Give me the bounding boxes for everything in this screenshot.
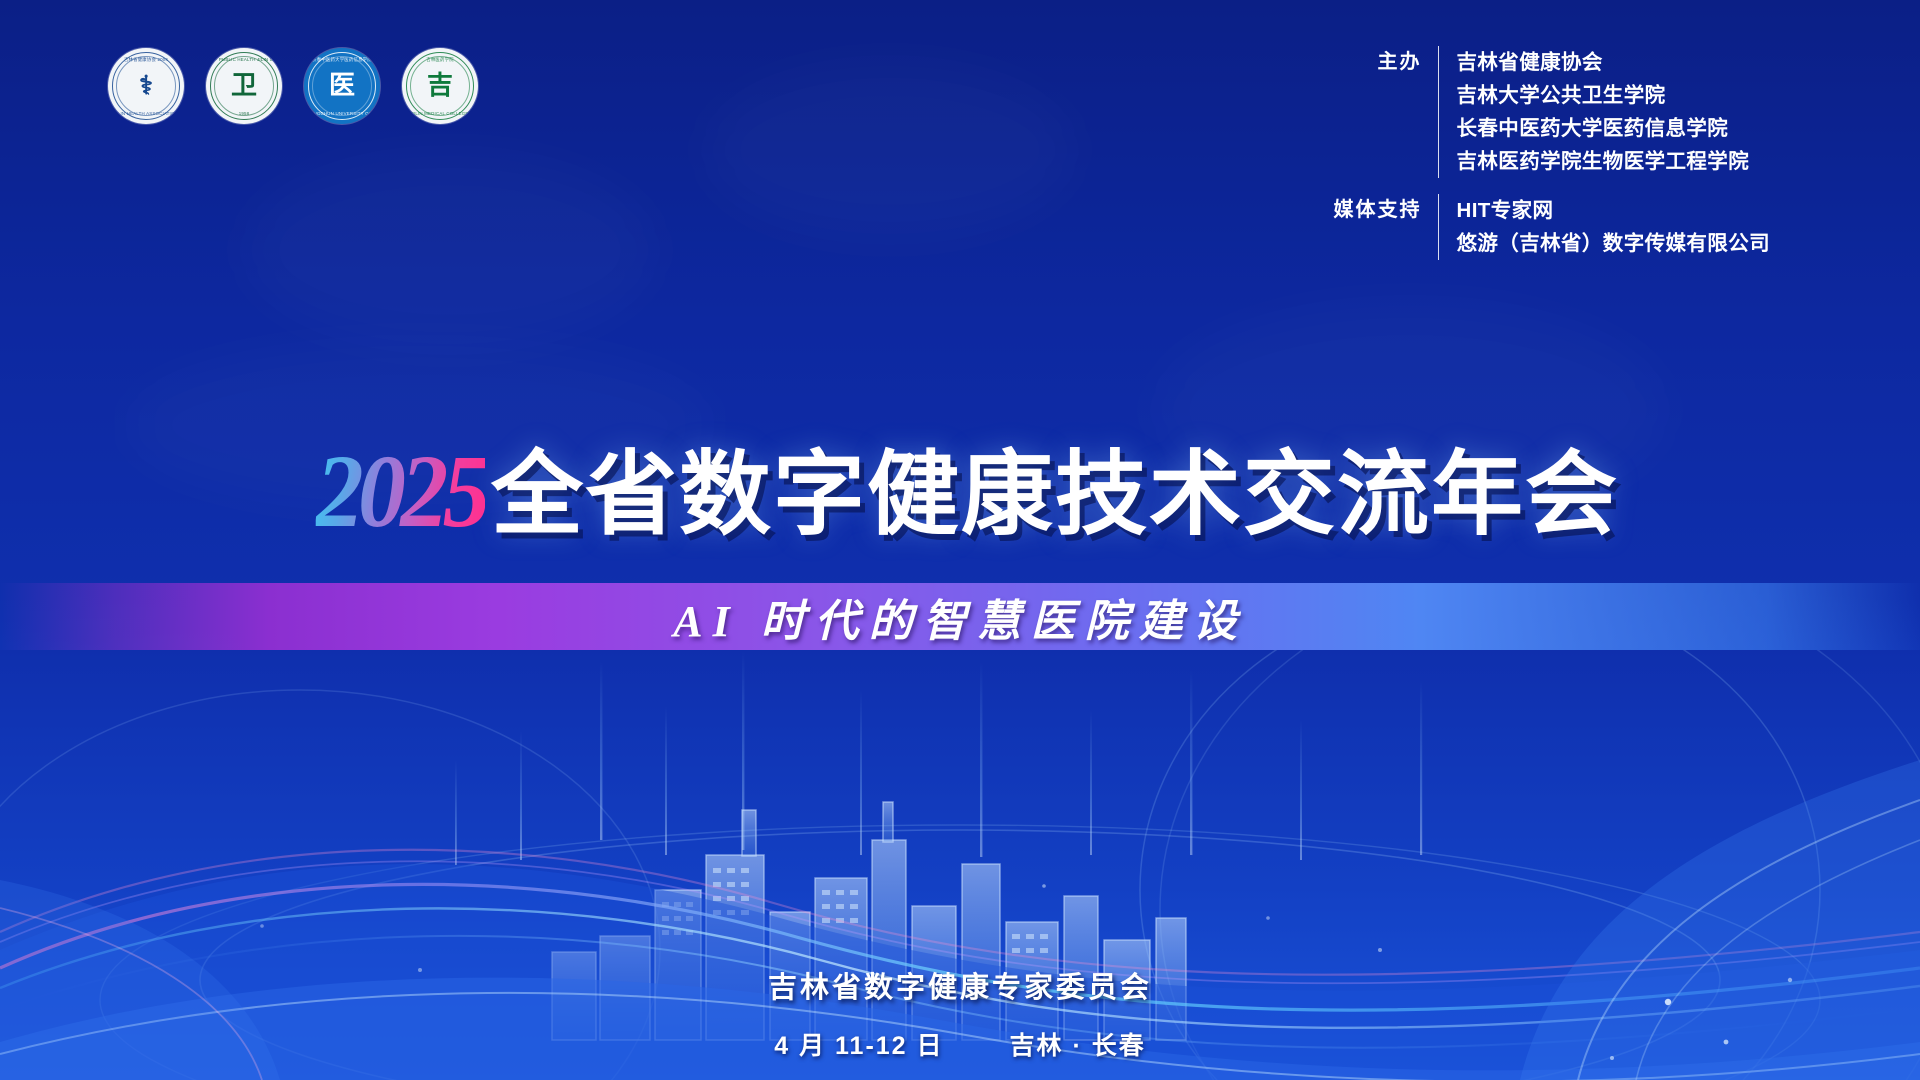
logo-bottom-text: JILIN MEDICAL COLLEGE bbox=[412, 111, 469, 116]
credit-row-organizers: 主办 吉林省健康协会 吉林大学公共卫生学院 长春中医药大学医药信息学院 吉林医药… bbox=[1304, 46, 1771, 178]
organizer-name: 吉林医药学院生物医学工程学院 bbox=[1457, 145, 1750, 178]
logo-bottom-text: 1958 bbox=[239, 111, 250, 116]
background-texture-blob bbox=[700, 60, 1080, 240]
event-meta: 4 月 11-12 日 吉林 · 长春 bbox=[774, 1026, 1146, 1062]
logo-mark-icon: 医 bbox=[329, 73, 355, 99]
event-date: 4 月 11-12 日 bbox=[774, 1026, 943, 1062]
committee-name: 吉林省数字健康专家委员会 bbox=[0, 964, 1920, 1006]
jilin-health-association-logo: 吉林省健康协会 2004 ⚕ JILIN HEALTH ASSOCIATION bbox=[108, 48, 184, 124]
organizer-name: 吉林大学公共卫生学院 bbox=[1457, 79, 1750, 112]
main-title: 2025 全省数字健康技术交流年会 bbox=[301, 440, 1619, 544]
poster-canvas: 吉林省健康协会 2004 ⚕ JILIN HEALTH ASSOCIATION … bbox=[0, 0, 1920, 1080]
logo-bottom-text: CHANGCHUN UNIVERSITY OF CM bbox=[304, 111, 380, 116]
credit-label-organizer: 主办 bbox=[1304, 46, 1438, 79]
organizer-name: 吉林省健康协会 bbox=[1457, 46, 1750, 79]
credit-names-media: HIT专家网 悠游（吉林省）数字传媒有限公司 bbox=[1438, 194, 1771, 260]
changchun-tcm-university-logo: 长春中医药大学医药信息学院 医 CHANGCHUN UNIVERSITY OF … bbox=[304, 48, 380, 124]
event-location: 吉林 · 长春 bbox=[1010, 1026, 1146, 1062]
logo-top-text: SCHOOL OF PUBLIC HEALTH JILIN UNIVERSITY bbox=[206, 57, 282, 62]
jilin-medical-college-logo: 吉林医药学院 吉 JILIN MEDICAL COLLEGE bbox=[402, 48, 478, 124]
media-name: 悠游（吉林省）数字传媒有限公司 bbox=[1457, 227, 1771, 260]
credit-row-media: 媒体支持 HIT专家网 悠游（吉林省）数字传媒有限公司 bbox=[1304, 194, 1771, 260]
logo-row: 吉林省健康协会 2004 ⚕ JILIN HEALTH ASSOCIATION … bbox=[108, 48, 478, 124]
background-texture-blob bbox=[240, 150, 660, 350]
title-block: 2025 全省数字健康技术交流年会 bbox=[0, 440, 1920, 544]
credit-names-organizer: 吉林省健康协会 吉林大学公共卫生学院 长春中医药大学医药信息学院 吉林医药学院生… bbox=[1438, 46, 1750, 178]
logo-mark-icon: 吉 bbox=[427, 73, 453, 99]
logo-top-text: 吉林医药学院 bbox=[426, 57, 454, 63]
credit-label-media-support: 媒体支持 bbox=[1304, 194, 1438, 227]
year-mark: 2025 bbox=[316, 440, 485, 544]
footer-block: 吉林省数字健康专家委员会 4 月 11-12 日 吉林 · 长春 bbox=[0, 964, 1920, 1062]
subtitle-text: AI 时代的智慧医院建设 bbox=[0, 586, 1920, 648]
logo-top-text: 吉林省健康协会 2004 bbox=[124, 57, 168, 63]
media-name: HIT专家网 bbox=[1457, 194, 1771, 227]
jilin-university-public-health-logo: SCHOOL OF PUBLIC HEALTH JILIN UNIVERSITY… bbox=[206, 48, 282, 124]
logo-mark-icon: ⚕ bbox=[139, 73, 153, 99]
logo-mark-icon: 卫 bbox=[231, 73, 257, 99]
credits-block: 主办 吉林省健康协会 吉林大学公共卫生学院 长春中医药大学医药信息学院 吉林医药… bbox=[1304, 46, 1771, 260]
logo-top-text: 长春中医药大学医药信息学院 bbox=[312, 57, 372, 63]
logo-bottom-text: JILIN HEALTH ASSOCIATION bbox=[114, 111, 178, 116]
title-text: 全省数字健康技术交流年会 bbox=[491, 449, 1619, 541]
organizer-name: 长春中医药大学医药信息学院 bbox=[1457, 112, 1750, 145]
